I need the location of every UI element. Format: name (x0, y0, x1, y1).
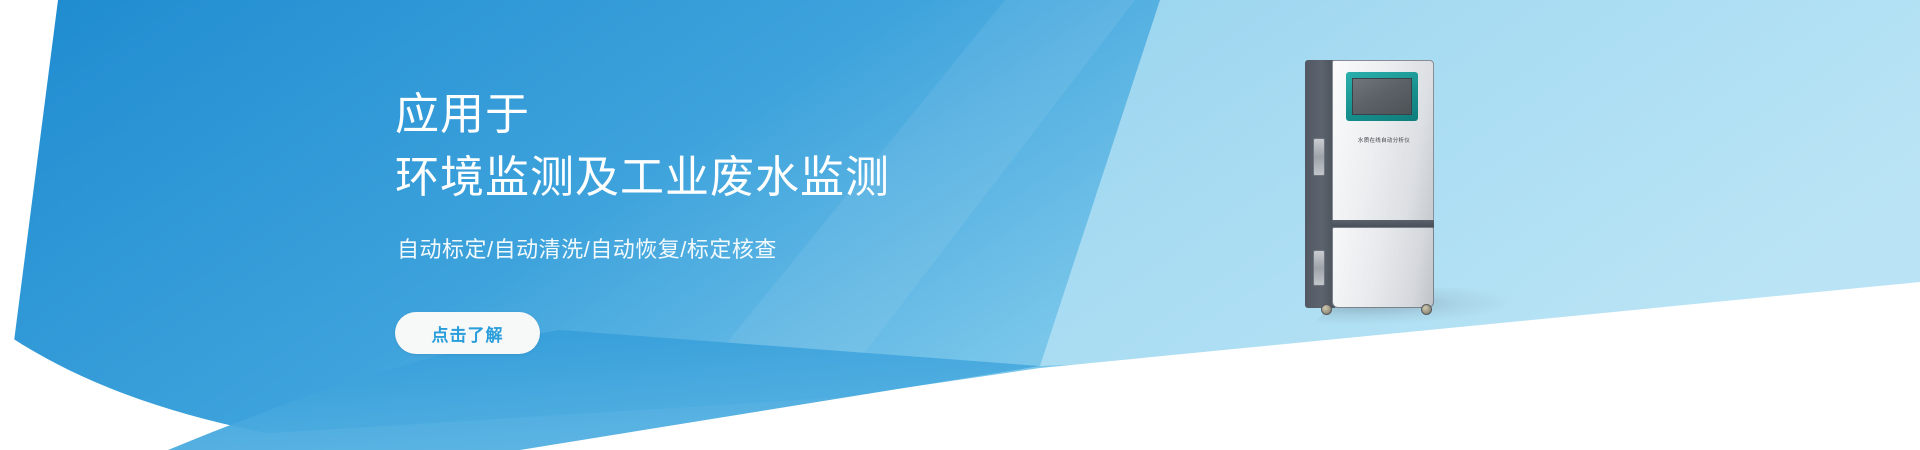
banner-copy: 应用于 环境监测及工业废水监测 自动标定/自动清洗/自动恢复/标定核查 点击了解 (395, 0, 1155, 450)
headline-line-1: 应用于 (395, 84, 890, 146)
device-screen (1352, 78, 1412, 115)
device-label: 水质在线自动分析仪 (1333, 136, 1435, 144)
product-device-image: 水质在线自动分析仪 (1305, 60, 1450, 320)
learn-more-button[interactable]: 点击了解 (395, 312, 540, 354)
device-lower-door (1332, 227, 1434, 308)
device-caster-right (1421, 304, 1432, 315)
promo-banner: 应用于 环境监测及工业废水监测 自动标定/自动清洗/自动恢复/标定核查 点击了解… (0, 0, 1920, 450)
device-caster-left (1321, 304, 1332, 315)
banner-subtitle: 自动标定/自动清洗/自动恢复/标定核查 (397, 232, 777, 264)
device-upper-door: 水质在线自动分析仪 (1332, 60, 1434, 224)
device-side-panel (1305, 60, 1335, 308)
banner-headline: 应用于 环境监测及工业废水监测 (395, 84, 890, 209)
device-side-handle-upper (1313, 138, 1325, 176)
device-side-handle-lower (1313, 250, 1325, 286)
headline-line-2: 环境监测及工业废水监测 (395, 147, 890, 209)
device-screen-bezel (1346, 72, 1418, 121)
